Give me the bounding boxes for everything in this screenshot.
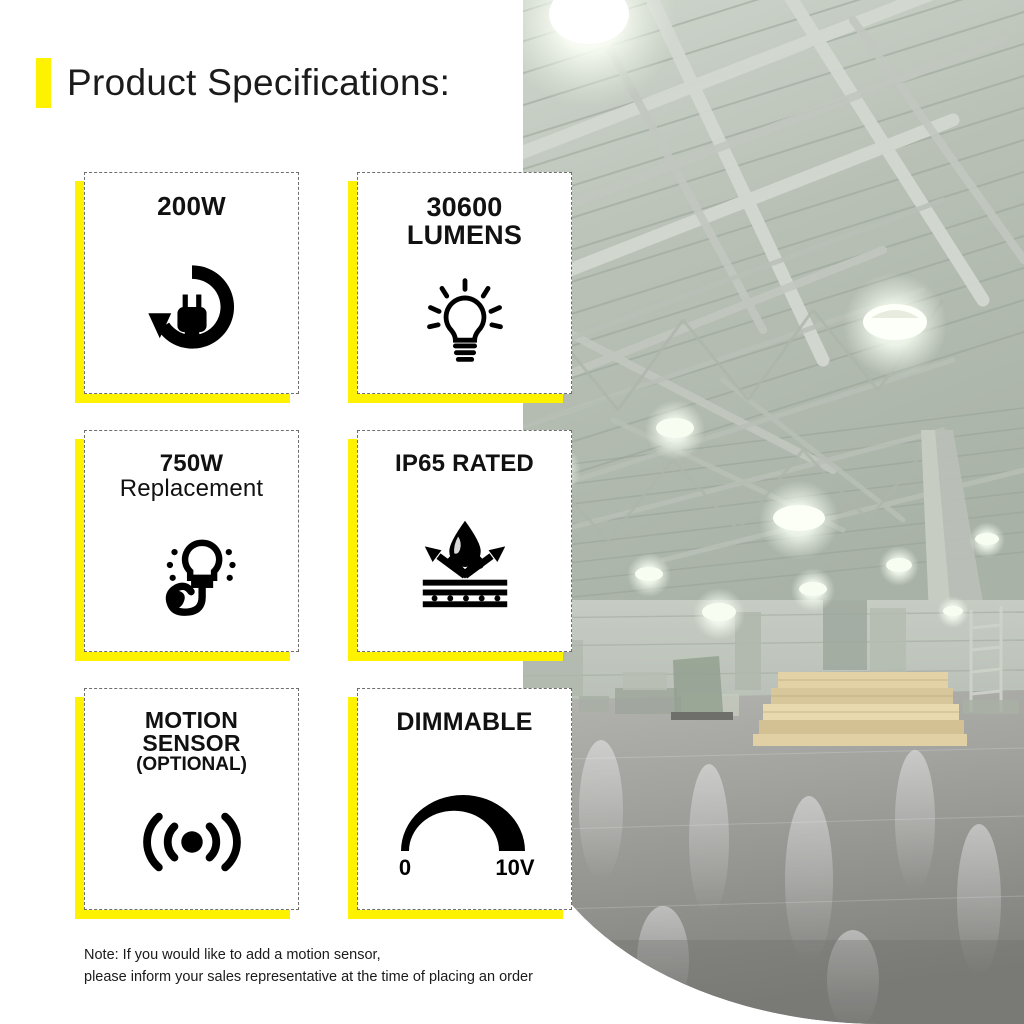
replacement-label: Replacement — [120, 476, 264, 501]
card-face: 750W Replacement — [84, 430, 299, 652]
spec-card-wattage[interactable]: 200W — [84, 172, 299, 394]
card-title-ip65: IP65 RATED — [395, 451, 534, 476]
replacement-watts: 750W — [160, 450, 224, 477]
card-face: MOTION SENSOR (OPTIONAL) — [84, 688, 299, 910]
title-accent-bar — [36, 58, 51, 108]
warehouse-photo-panel — [523, 0, 1024, 1024]
page-title: Product Specifications: — [67, 62, 450, 104]
motion-wave-icon — [85, 774, 298, 909]
spec-card-ingress-protection[interactable]: IP65 RATED — [357, 430, 572, 652]
motion-line2: SENSOR — [142, 730, 240, 756]
card-face: DIMMABLE 0 10V — [357, 688, 572, 910]
bulb-cord-eco-icon — [85, 501, 298, 651]
spec-card-motion-sensor[interactable]: MOTION SENSOR (OPTIONAL) — [84, 688, 299, 910]
spec-card-grid: 200W — [84, 172, 584, 946]
card-title-replacement: 750W Replacement — [120, 451, 264, 501]
spec-card-lumens[interactable]: 30600 LUMENS — [357, 172, 572, 394]
spec-card-replacement[interactable]: 750W Replacement — [84, 430, 299, 652]
spec-card-dimmable[interactable]: DIMMABLE 0 10V — [357, 688, 572, 910]
card-title-dimmable: DIMMABLE — [396, 709, 532, 735]
page-title-group: Product Specifications: — [36, 58, 450, 108]
motion-optional: (OPTIONAL) — [136, 755, 247, 774]
card-face: 30600 LUMENS — [357, 172, 572, 394]
dimmer-scale-min: 0 — [398, 855, 410, 880]
light-bulb-rays-icon — [358, 250, 571, 393]
card-title-motion-sensor: MOTION SENSOR (OPTIONAL) — [136, 709, 247, 774]
lumens-value: 30600 — [426, 192, 502, 222]
warehouse-photo — [523, 0, 1024, 1024]
dimmer-scale-max: 10V — [495, 855, 534, 880]
card-face: 200W — [84, 172, 299, 394]
card-title-wattage: 200W — [157, 193, 226, 220]
lumens-unit: LUMENS — [407, 220, 522, 250]
card-face: IP65 RATED — [357, 430, 572, 652]
water-repellent-icon — [358, 476, 571, 651]
dimmer-arc-icon: 0 10V — [358, 735, 571, 909]
card-title-lumens: 30600 LUMENS — [407, 193, 522, 250]
footer-note: Note: If you would like to add a motion … — [84, 944, 533, 989]
spec-row: 200W — [84, 172, 584, 394]
power-plug-cycle-icon — [85, 220, 298, 393]
note-line-2: please inform your sales representative … — [84, 966, 533, 988]
note-line-1: Note: If you would like to add a motion … — [84, 944, 533, 966]
spec-row: MOTION SENSOR (OPTIONAL) — [84, 688, 584, 910]
spec-row: 750W Replacement — [84, 430, 584, 652]
